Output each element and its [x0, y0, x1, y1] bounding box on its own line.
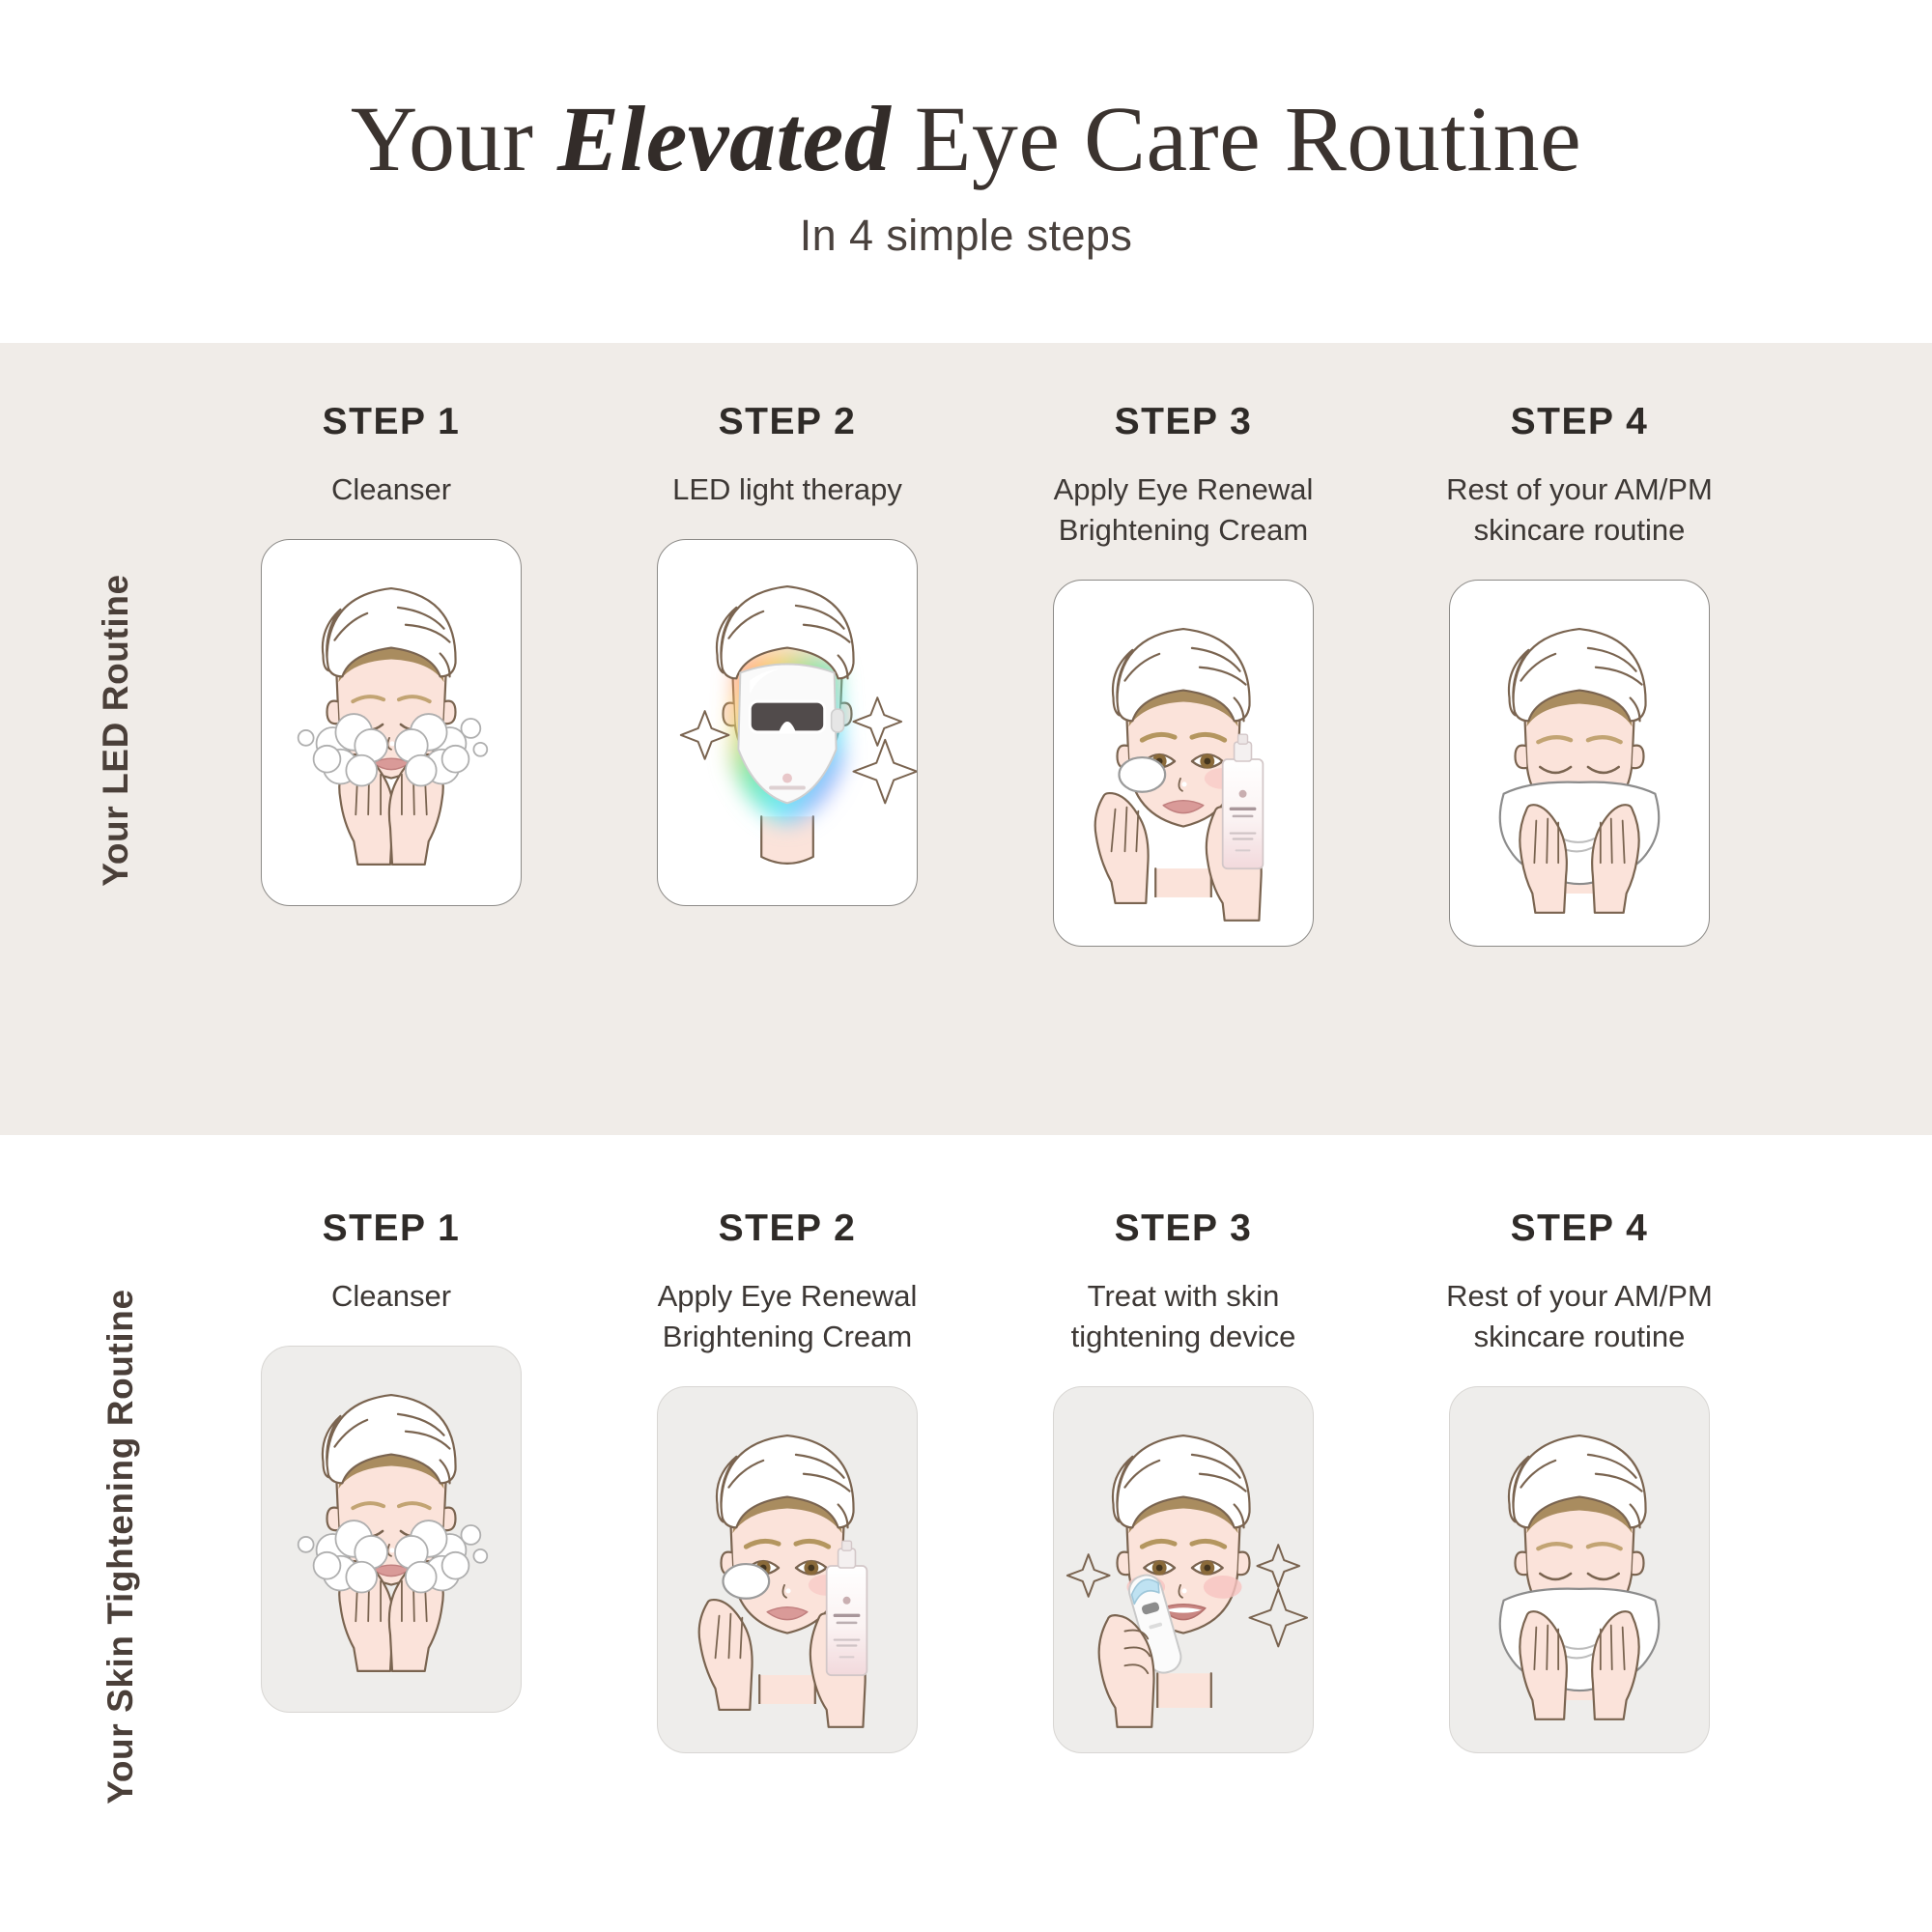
title-emphasis: Elevated — [557, 87, 891, 190]
illustration-card-tightening-device — [1053, 1386, 1314, 1753]
skin-tightening-steps: STEP 1 Cleanser — [193, 1207, 1777, 1753]
step-card-led-2: STEP 2 LED light therapy — [589, 401, 985, 947]
step-description: Apply Eye Renewal Brightening Cream — [1024, 469, 1343, 551]
illustration-card-led-mask — [657, 539, 918, 906]
infographic-page: Your Elevated Eye Care Routine In 4 simp… — [0, 0, 1932, 1932]
step-number: STEP 1 — [323, 401, 461, 443]
title-part-post: Eye Care Routine — [891, 87, 1581, 190]
step-card-led-1: STEP 1 Cleanser — [193, 401, 589, 947]
step-card-tight-2: STEP 2 Apply Eye Renewal Brightening Cre… — [589, 1207, 985, 1753]
step-description: Apply Eye Renewal Brightening Cream — [633, 1276, 942, 1357]
step-card-led-4: STEP 4 Rest of your AM/PM skincare routi… — [1381, 401, 1777, 947]
section-label-skin-tightening: Your Skin Tightening Routine — [100, 1276, 141, 1817]
step-description: Rest of your AM/PM skincare routine — [1420, 469, 1739, 551]
step-number: STEP 2 — [719, 1207, 857, 1250]
page-subtitle: In 4 simple steps — [800, 211, 1132, 261]
illustration-card-washing-face — [261, 1346, 522, 1713]
illustration-card-apply-cream — [657, 1386, 918, 1753]
step-description: Cleanser — [331, 1276, 451, 1317]
illustration-card-washing-face — [261, 539, 522, 906]
step-card-tight-1: STEP 1 Cleanser — [193, 1207, 589, 1753]
illustration-card-apply-cream — [1053, 580, 1314, 947]
step-card-tight-4: STEP 4 Rest of your AM/PM skincare routi… — [1381, 1207, 1777, 1753]
step-description: LED light therapy — [672, 469, 902, 510]
step-description: Treat with skin tightening device — [1029, 1276, 1338, 1357]
step-number: STEP 3 — [1115, 1207, 1253, 1250]
step-card-tight-3: STEP 3 Treat with skin tightening device — [985, 1207, 1381, 1753]
step-number: STEP 3 — [1115, 401, 1253, 443]
step-description: Cleanser — [331, 469, 451, 510]
illustration-card-towel-dry — [1449, 1386, 1710, 1753]
step-description: Rest of your AM/PM skincare routine — [1425, 1276, 1734, 1357]
title-part-pre: Your — [351, 87, 557, 190]
header: Your Elevated Eye Care Routine In 4 simp… — [0, 0, 1932, 343]
step-number: STEP 1 — [323, 1207, 461, 1250]
section-label-led-routine: Your LED Routine — [96, 537, 136, 923]
step-number: STEP 4 — [1511, 401, 1649, 443]
page-title: Your Elevated Eye Care Routine — [351, 89, 1581, 189]
led-routine-steps: STEP 1 Cleanser — [193, 401, 1777, 947]
illustration-card-towel-dry — [1449, 580, 1710, 947]
step-card-led-3: STEP 3 Apply Eye Renewal Brightening Cre… — [985, 401, 1381, 947]
step-number: STEP 2 — [719, 401, 857, 443]
step-number: STEP 4 — [1511, 1207, 1649, 1250]
